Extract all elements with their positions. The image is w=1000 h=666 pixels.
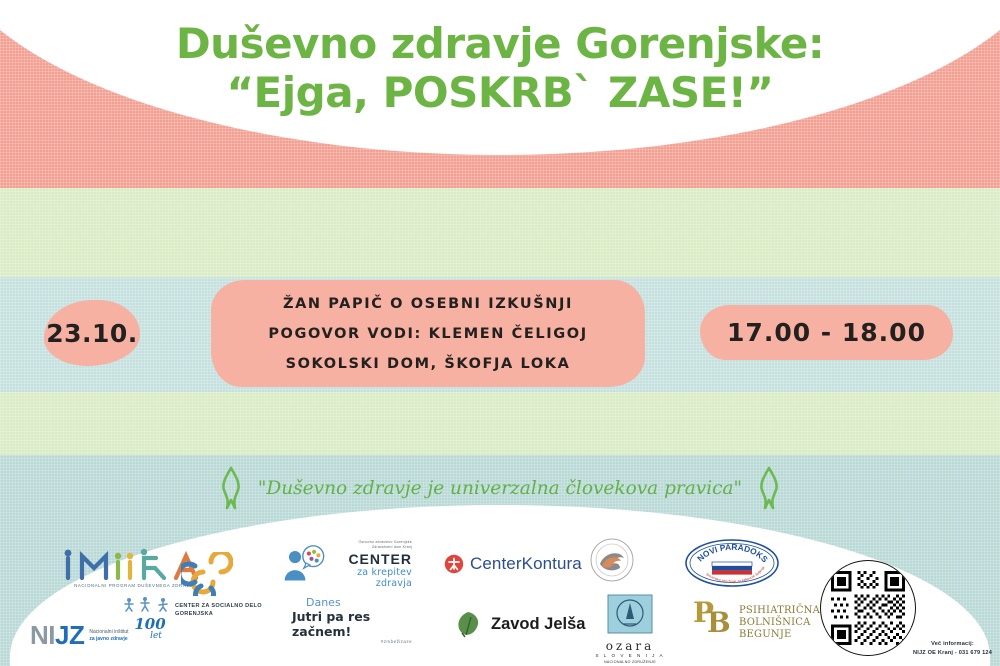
logo-ozara-slovenija: ozara S L O V E N I J A NACIONALNO ZDRUŽ… <box>590 594 670 666</box>
event-detail-line-1: Žan Papič o osebni izkušnji <box>283 296 573 312</box>
people-icon <box>121 596 179 612</box>
quote-strip: "Duševno zdravje je univerzalna človekov… <box>0 466 1000 510</box>
anniversary-number: 100 <box>120 617 180 631</box>
people-speech-bubble-icon <box>282 543 327 585</box>
pb-begunje-name: PSIHIATRIČNA BOLNIŠNICA BEGUNJE <box>739 605 820 642</box>
logo-pb-begunje: P B PSIHIATRIČNA BOLNIŠNICA BEGUNJE <box>693 596 820 642</box>
qr-code[interactable] <box>820 560 916 656</box>
pb-line-2: BOLNIŠNICA <box>739 617 820 629</box>
nijz-mark-left: NI <box>30 620 55 650</box>
nijz-wordmark: NIJZ <box>30 620 84 651</box>
sponsor-logo-tray: NACIONALNI PROGRAM DUŠEVNEGA ZDRAVJA NIJ… <box>0 520 1000 666</box>
awareness-ribbon-icon-left <box>218 466 244 510</box>
ckz-small-word: za krepitev zdravja <box>330 567 412 589</box>
headline-line-2: “Ejga, POSKRB` ZASE!” <box>0 69 1000 118</box>
csd-subtitle-line-1: CENTER ZA SOCIALNO DELO <box>175 602 295 610</box>
novi-paradoks-emblem-icon: NOVI PARADOKS Slovensko združenje za kak… <box>684 538 780 588</box>
round-emblem-icon <box>590 538 634 582</box>
band-green-lower <box>0 392 1000 456</box>
ozara-symbol-icon <box>607 594 653 634</box>
logo-round-emblem <box>590 538 634 587</box>
pb-line-3: BEGUNJE <box>739 629 820 641</box>
logo-nijz-anniversary: 100 let <box>120 596 180 641</box>
centerkontura-symbol-icon <box>444 554 464 574</box>
danes-line-2: Jutri pa res začnem! <box>292 609 412 639</box>
csd-subtitle: CENTER ZA SOCIALNO DELO GORENJSKA <box>175 602 295 619</box>
event-detail-line-3: Sokolski dom, Škofja Loka <box>286 356 571 372</box>
awareness-ribbon-icon-right <box>756 466 782 510</box>
event-time-badge: 17.00 - 18.00 <box>700 305 953 360</box>
logo-novi-paradoks: NOVI PARADOKS Slovensko združenje za kak… <box>684 538 780 593</box>
pb-monogram-icon: P B <box>693 596 737 640</box>
ckz-big-word: CENTER <box>330 551 412 567</box>
event-date-badge: 23.10. <box>44 300 140 366</box>
poster-canvas: Duševno zdravje Gorenjske: “Ejga, POSKRB… <box>0 0 1000 666</box>
event-time-text: 17.00 - 18.00 <box>727 318 926 347</box>
event-date-text: 23.10. <box>46 319 138 348</box>
page-title: Duševno zdravje Gorenjske: “Ejga, POSKRB… <box>0 20 1000 117</box>
nijz-mark-right: JZ <box>55 620 84 650</box>
csd-symbol-icon <box>181 552 233 596</box>
qr-code-matrix-icon[interactable] <box>825 565 911 651</box>
qr-code-circle[interactable] <box>820 560 916 656</box>
leaf-icon <box>452 608 484 640</box>
centerkontura-name: CenterKontura <box>470 554 582 574</box>
danes-line-1: Danes <box>306 596 412 609</box>
ozara-wordmark: ozara <box>590 639 670 653</box>
quote-text: "Duševno zdravje je univerzalna človekov… <box>258 478 742 499</box>
ozara-country: S L O V E N I J A <box>590 653 670 658</box>
csd-subtitle-line-2: GORENJSKA <box>175 610 295 618</box>
pb-line-1: PSIHIATRIČNA <box>739 605 820 617</box>
logo-csd-gorenjska: CENTER ZA SOCIALNO DELO GORENJSKA <box>175 552 295 619</box>
svg-text:B: B <box>707 606 731 639</box>
logo-centerkontura: CenterKontura <box>444 554 582 574</box>
logo-danes-jutri: Danes Jutri pa res začnem! #zmbežizaze <box>292 596 412 644</box>
headline-line-1: Duševno zdravje Gorenjske: <box>176 19 824 68</box>
logo-center-za-krepitev-zdravja: Osnovno zdravstvo Gorenjske Zdravstveni … <box>282 540 412 589</box>
danes-hashtag: #zmbežizaze <box>292 639 412 644</box>
zavod-jelsa-name: Zavod Jelša <box>491 615 585 634</box>
event-details-card: Žan Papič o osebni izkušnji Pogovor vodi… <box>211 280 645 387</box>
logo-zavod-jelsa: Zavod Jelša <box>452 608 585 640</box>
ozara-note-line-1: NACIONALNO ZDRUŽENJE <box>590 660 670 665</box>
band-green-upper <box>0 188 1000 278</box>
event-detail-line-2: Pogovor vodi: Klemen Čeligoj <box>268 326 587 342</box>
